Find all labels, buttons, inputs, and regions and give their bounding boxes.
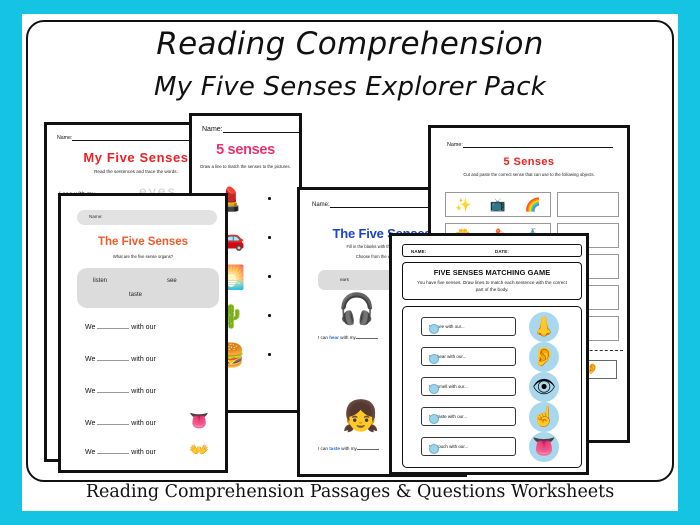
blank-input[interactable]	[97, 453, 129, 454]
fill-blank-sentence[interactable]: We with our	[85, 324, 156, 331]
name-field-label: Name:	[312, 202, 445, 208]
page-title: Reading Comprehension	[26, 26, 674, 62]
match-dot[interactable]	[268, 353, 271, 356]
rainbow-icon: 🌈	[525, 198, 541, 211]
name-field[interactable]: Name:	[77, 210, 217, 225]
name-field-label: NAME:	[411, 249, 426, 254]
caption-taste: I can taste with my	[318, 446, 379, 451]
word-bank-word: ears	[340, 277, 349, 282]
sentence-prefix: We	[85, 324, 95, 331]
fill-blank-sentence[interactable]: We with our	[85, 388, 156, 395]
sentence-prefix: We	[85, 388, 95, 395]
matching-game-body: We see with our... 👃 We hear with our...…	[402, 306, 582, 468]
child-headphones-icon: 🎧	[338, 295, 375, 325]
match-sentence-card[interactable]: We hear with our...	[421, 347, 516, 366]
worksheet-title: 5 senses	[192, 142, 299, 158]
child-tasting-icon: 👧	[342, 402, 379, 432]
sentence-suffix: with our	[131, 388, 156, 395]
eye-icon[interactable]: 👁	[529, 372, 559, 402]
blank-input[interactable]	[357, 449, 379, 450]
worksheet-instruction: Cut and paste the correct sense that can…	[431, 172, 627, 178]
blank-input[interactable]	[97, 360, 129, 361]
fill-blank-sentence[interactable]: We with our	[85, 420, 156, 427]
poster-footer: Reading Comprehension Passages & Questio…	[22, 482, 678, 502]
sentence-suffix: with our	[131, 449, 156, 456]
sentence-prefix: We	[85, 449, 95, 456]
blank-input[interactable]	[97, 424, 129, 425]
date-field-label: DATE:	[495, 249, 509, 254]
match-connector-dot[interactable]	[429, 324, 439, 334]
name-field-label: Name:	[447, 142, 613, 148]
sentence-prefix: We	[85, 420, 95, 427]
hand-icon[interactable]: ☝	[529, 402, 559, 432]
fill-blank-sentence[interactable]: We with our	[85, 356, 156, 363]
blank-input[interactable]	[97, 328, 129, 329]
match-dot[interactable]	[268, 275, 271, 278]
match-sentence-card[interactable]: We smell with our...	[421, 377, 516, 396]
poster-canvas: Reading Comprehension My Five Senses Exp…	[0, 0, 700, 525]
blank-input[interactable]	[356, 338, 378, 339]
nose-icon[interactable]: 👃	[529, 312, 559, 342]
sentence-suffix: with our	[131, 420, 156, 427]
tongue-icon: 👅	[189, 414, 209, 430]
worksheet-instruction: You have five senses. Draw lines to matc…	[403, 280, 581, 293]
object-row: ✨ 📺 🌈	[445, 192, 551, 217]
blank-input[interactable]	[97, 392, 129, 393]
worksheet-instruction: Draw a line to match the senses to the p…	[192, 164, 299, 170]
sentence-prefix: We	[85, 356, 95, 363]
word-bank-word: taste	[129, 292, 142, 298]
match-sentence-card[interactable]: We touch with our...	[421, 437, 516, 456]
page-subtitle: My Five Senses Explorer Pack	[26, 72, 674, 102]
match-sentence-card[interactable]: We taste with our...	[421, 407, 516, 426]
name-date-row[interactable]: NAME: DATE:	[402, 244, 582, 257]
answer-box[interactable]	[557, 192, 619, 217]
worksheet-title: 5 Senses	[431, 156, 627, 168]
match-connector-dot[interactable]	[429, 444, 439, 454]
sparkle-icon: ✨	[455, 198, 471, 211]
match-sentence-card[interactable]: We see with our...	[421, 317, 516, 336]
worksheet-matching-game[interactable]: NAME: DATE: FIVE SENSES MATCHING GAME Yo…	[389, 233, 589, 475]
matching-game-header: FIVE SENSES MATCHING GAME You have five …	[402, 262, 582, 300]
worksheet-five-sense-organs[interactable]: Name: The Five Senses What are the five …	[58, 193, 228, 473]
word-bank-word: see	[167, 278, 177, 284]
match-dot[interactable]	[268, 236, 271, 239]
match-dot[interactable]	[268, 197, 271, 200]
worksheet-instruction: What are the five sense organs?	[61, 254, 225, 260]
name-field-label: Name:	[89, 214, 103, 219]
sentence-suffix: with our	[131, 356, 156, 363]
television-icon: 📺	[490, 198, 506, 211]
match-dot[interactable]	[268, 314, 271, 317]
name-field-label: Name:	[202, 126, 302, 133]
ear-icon[interactable]: 👂	[529, 342, 559, 372]
hands-icon: 👐	[189, 443, 209, 459]
tongue-icon[interactable]: 👅	[529, 432, 559, 462]
name-field-label: Name:	[57, 135, 197, 141]
match-connector-dot[interactable]	[429, 384, 439, 394]
word-bank-word: listen	[93, 278, 107, 284]
worksheet-title: FIVE SENSES MATCHING GAME	[403, 268, 581, 277]
worksheet-title: The Five Senses	[61, 236, 225, 248]
word-bank: listen see taste	[77, 268, 219, 308]
sentence-suffix: with our	[131, 324, 156, 331]
fill-blank-sentence[interactable]: We with our	[85, 449, 156, 456]
match-connector-dot[interactable]	[429, 354, 439, 364]
match-connector-dot[interactable]	[429, 414, 439, 424]
caption-hear: I can hear with my	[318, 335, 378, 340]
